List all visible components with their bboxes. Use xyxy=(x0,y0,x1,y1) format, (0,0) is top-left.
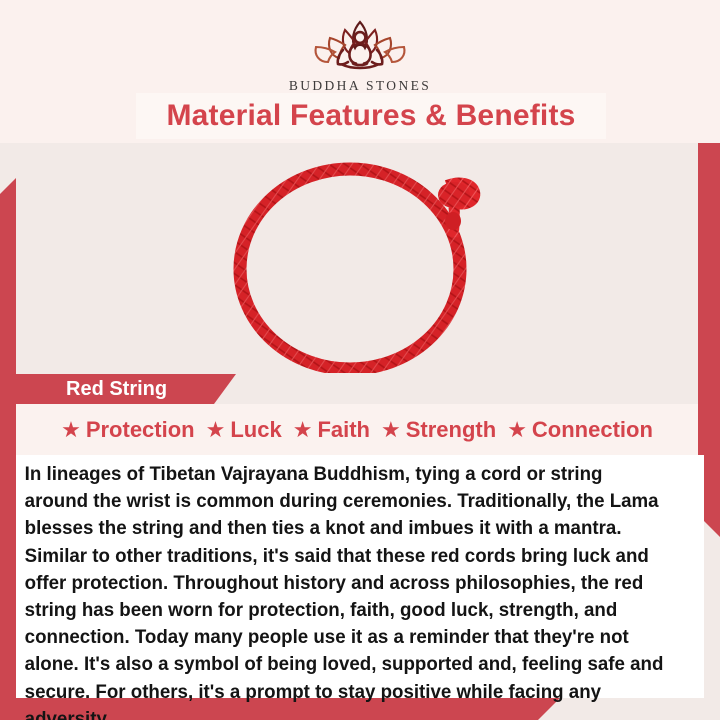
feature-item-strength: ★ Strength xyxy=(381,417,496,443)
feature-item-luck: ★ Luck xyxy=(206,417,282,443)
description-block: In lineages of Tibetan Vajrayana Buddhis… xyxy=(16,455,704,698)
star-icon: ★ xyxy=(381,419,401,441)
star-icon: ★ xyxy=(507,419,527,441)
product-image-area xyxy=(16,143,698,381)
brand-name: BUDDHA STONES xyxy=(0,78,720,94)
decorative-bar-left xyxy=(0,178,16,720)
header: BUDDHA STONES Material Features & Benefi… xyxy=(0,0,720,143)
star-icon: ★ xyxy=(293,419,313,441)
star-icon: ★ xyxy=(206,419,226,441)
page-title: Material Features & Benefits xyxy=(166,99,575,133)
brand-logo: BUDDHA STONES xyxy=(0,14,720,94)
feature-label: Protection xyxy=(86,417,195,443)
infographic-page: BUDDHA STONES Material Features & Benefi… xyxy=(0,0,720,720)
red-braided-string-bracelet-icon xyxy=(224,151,490,373)
feature-label: Faith xyxy=(317,417,370,443)
lotus-meditation-logo-icon xyxy=(285,14,435,76)
title-band: Material Features & Benefits xyxy=(136,93,606,139)
star-icon: ★ xyxy=(61,419,81,441)
product-label-banner: Red String xyxy=(16,374,236,404)
product-label: Red String xyxy=(16,378,167,401)
feature-list: ★ Protection ★ Luck ★ Faith ★ Strength ★… xyxy=(16,404,698,455)
feature-label: Connection xyxy=(532,417,653,443)
feature-label: Luck xyxy=(230,417,281,443)
feature-label: Strength xyxy=(406,417,496,443)
feature-item-faith: ★ Faith xyxy=(293,417,370,443)
description-text: In lineages of Tibetan Vajrayana Buddhis… xyxy=(16,455,680,720)
feature-item-connection: ★ Connection xyxy=(507,417,653,443)
feature-item-protection: ★ Protection xyxy=(61,417,195,443)
